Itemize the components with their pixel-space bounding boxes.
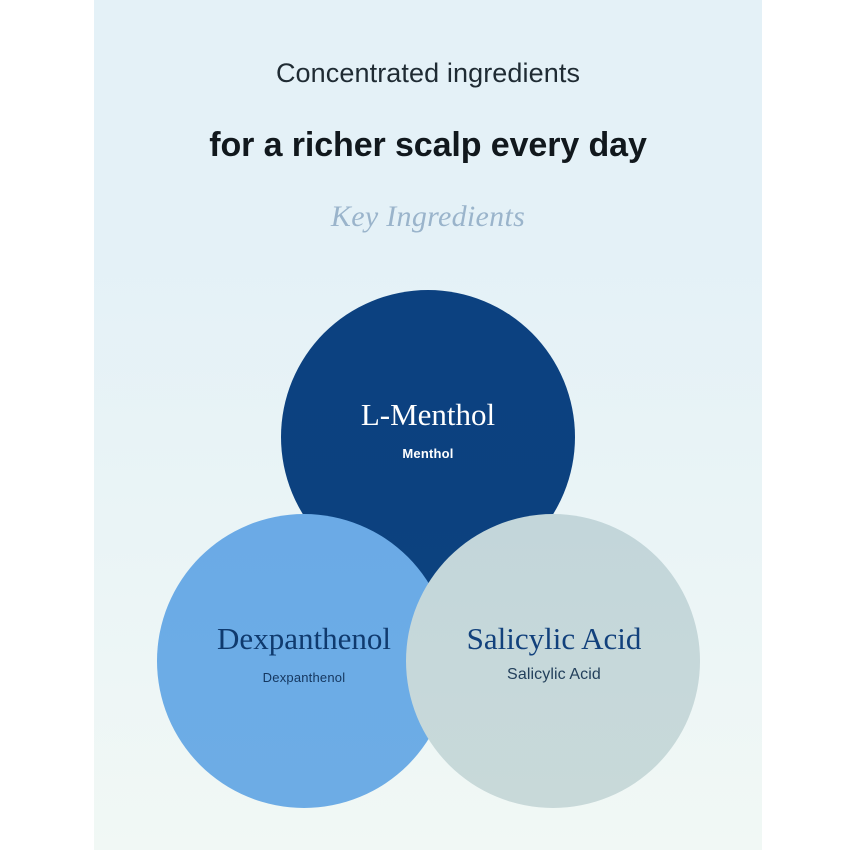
venn-label-menthol: L-Menthol Menthol: [278, 398, 578, 461]
venn-label-menthol-subtitle: Menthol: [278, 446, 578, 461]
venn-label-salicylic-acid-subtitle: Salicylic Acid: [404, 666, 704, 684]
venn-label-menthol-title: L-Menthol: [278, 398, 578, 432]
venn-circle-group: [157, 290, 700, 808]
ingredient-venn-graphic: Concentrated ingredients for a richer sc…: [0, 0, 850, 850]
venn-label-salicylic-acid-title: Salicylic Acid: [404, 622, 704, 656]
venn-label-salicylic-acid: Salicylic Acid Salicylic Acid: [404, 622, 704, 684]
